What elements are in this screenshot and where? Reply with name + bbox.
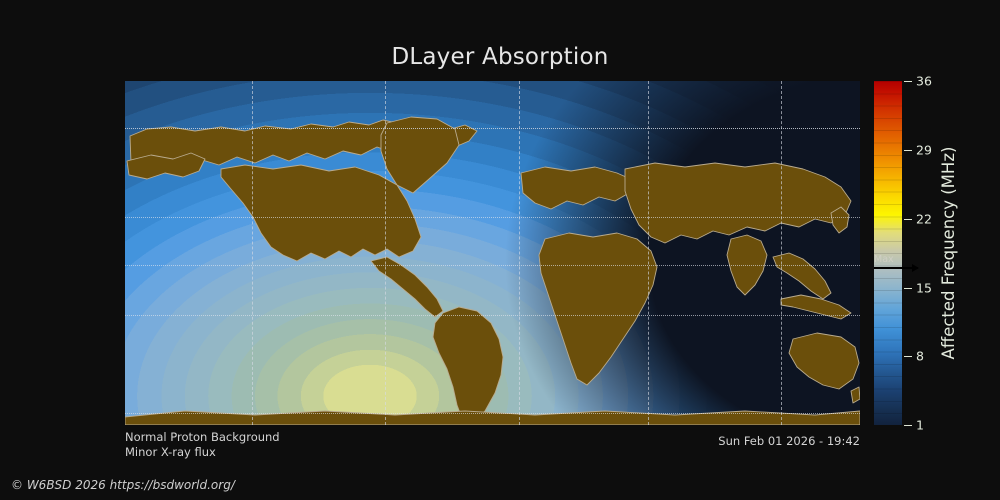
colorbar-tick-label: 29 bbox=[916, 143, 932, 158]
page-title: DLayer Absorption bbox=[0, 44, 1000, 70]
colorbar-axis-title: Affected Frequency (MHz) bbox=[935, 81, 963, 425]
land-new-zealand bbox=[851, 387, 860, 403]
gridline-horizontal bbox=[125, 128, 860, 129]
colorbar-gradient[interactable] bbox=[874, 81, 902, 425]
gridline-vertical bbox=[385, 81, 386, 425]
colorbar-tick-label: 1 bbox=[916, 418, 924, 433]
land-canada-us bbox=[221, 165, 421, 261]
max-marker-arrow-icon bbox=[874, 267, 918, 269]
land-europe bbox=[521, 167, 635, 209]
gridline-horizontal bbox=[125, 265, 860, 266]
xray-status-note: Minor X-ray flux bbox=[125, 445, 216, 459]
colorbar-tick bbox=[904, 219, 912, 220]
world-map[interactable] bbox=[125, 81, 860, 425]
colorbar-tick bbox=[904, 425, 912, 426]
gridline-vertical bbox=[519, 81, 520, 425]
timestamp-label: Sun Feb 01 2026 - 19:42 bbox=[718, 434, 860, 448]
colorbar-tick bbox=[904, 150, 912, 151]
landmass-layer bbox=[125, 81, 860, 425]
land-central-america bbox=[371, 257, 443, 317]
gridline-vertical bbox=[781, 81, 782, 425]
land-africa bbox=[539, 233, 657, 385]
land-australia bbox=[789, 333, 859, 389]
map-clip bbox=[125, 81, 860, 425]
colorbar-tick-label: 8 bbox=[916, 349, 924, 364]
proton-status-note: Normal Proton Background bbox=[125, 430, 280, 444]
colorbar-tick bbox=[904, 356, 912, 357]
colorbar-tick bbox=[904, 288, 912, 289]
land-asia bbox=[625, 163, 851, 243]
colorbar-tick bbox=[904, 81, 912, 82]
dlayer-absorption-screen: DLayer Absorption bbox=[0, 0, 1000, 500]
gridline-horizontal bbox=[125, 315, 860, 316]
land-south-america bbox=[433, 307, 503, 423]
max-marker-label: Max bbox=[874, 254, 894, 265]
gridline-horizontal bbox=[125, 217, 860, 218]
gridline-vertical bbox=[648, 81, 649, 425]
colorbar-tick-label: 22 bbox=[916, 212, 932, 227]
gridline-horizontal bbox=[125, 413, 860, 414]
max-marker: Max bbox=[874, 258, 920, 276]
gridline-vertical bbox=[252, 81, 253, 425]
colorbar-tick-label: 36 bbox=[916, 74, 932, 89]
colorbar-tick-label: 15 bbox=[916, 281, 932, 296]
credit-label: © W6BSD 2026 https://bsdworld.org/ bbox=[11, 478, 235, 492]
